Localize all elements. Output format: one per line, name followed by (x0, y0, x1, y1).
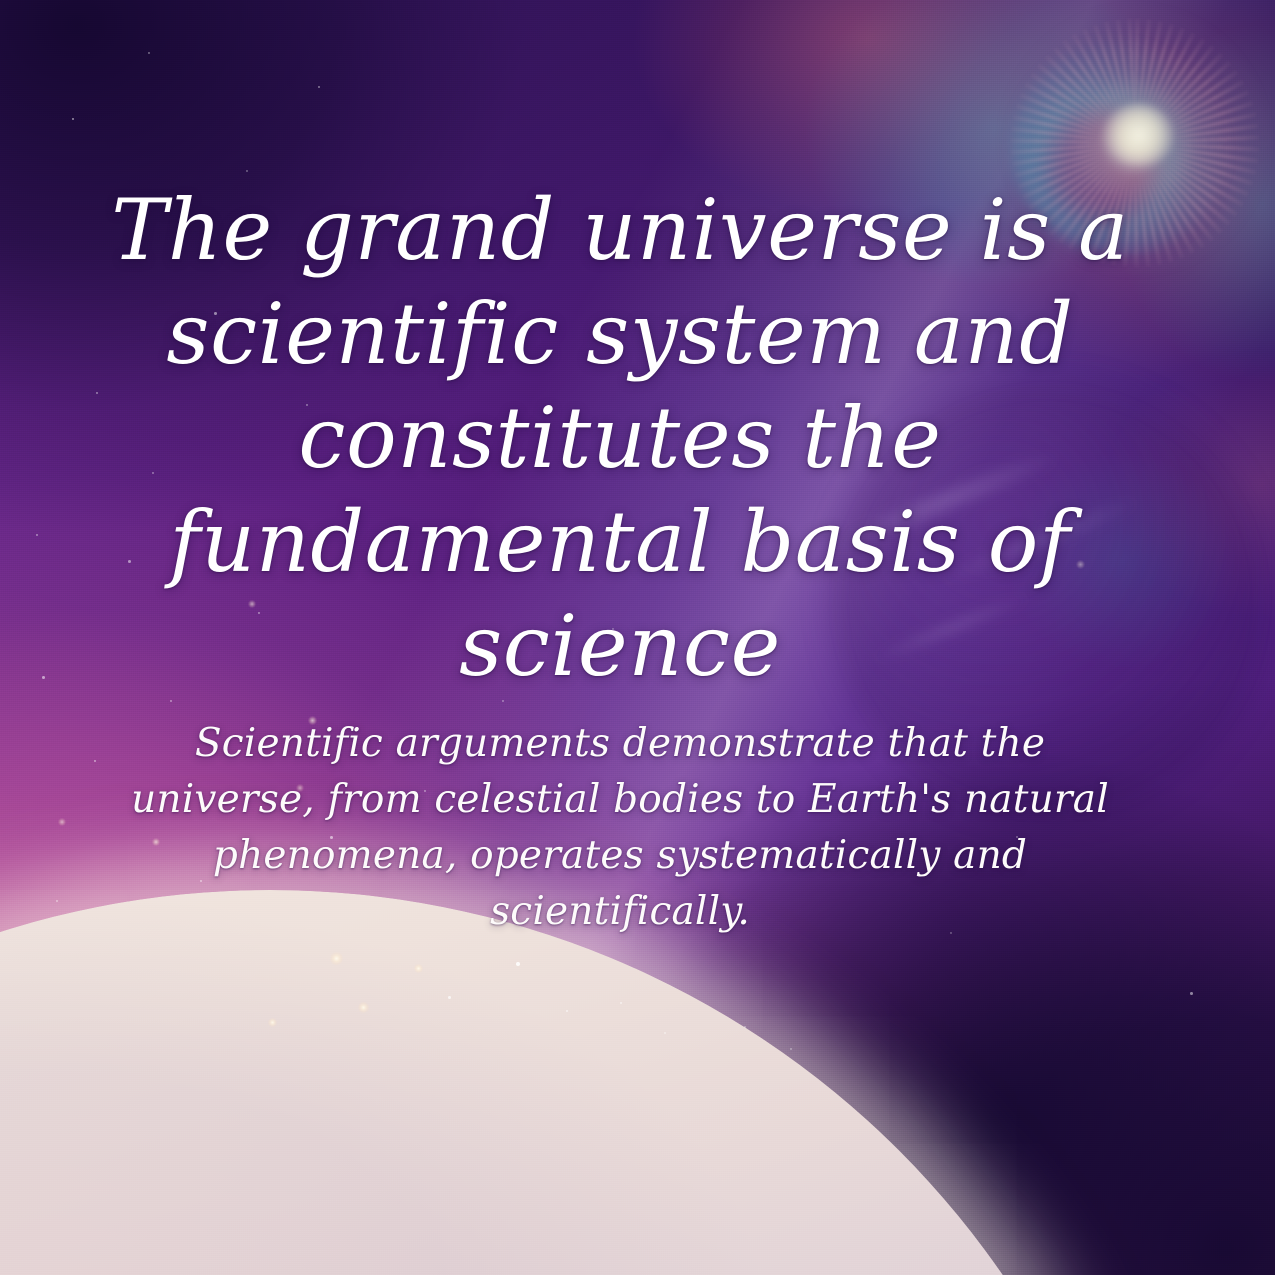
page-title: The grand universe is a scientific syste… (90, 178, 1150, 698)
page-subtitle: Scientific arguments demonstrate that th… (120, 716, 1120, 940)
quote-poster: The grand universe is a scientific syste… (0, 0, 1275, 1275)
poster-content: The grand universe is a scientific syste… (0, 0, 1275, 1275)
